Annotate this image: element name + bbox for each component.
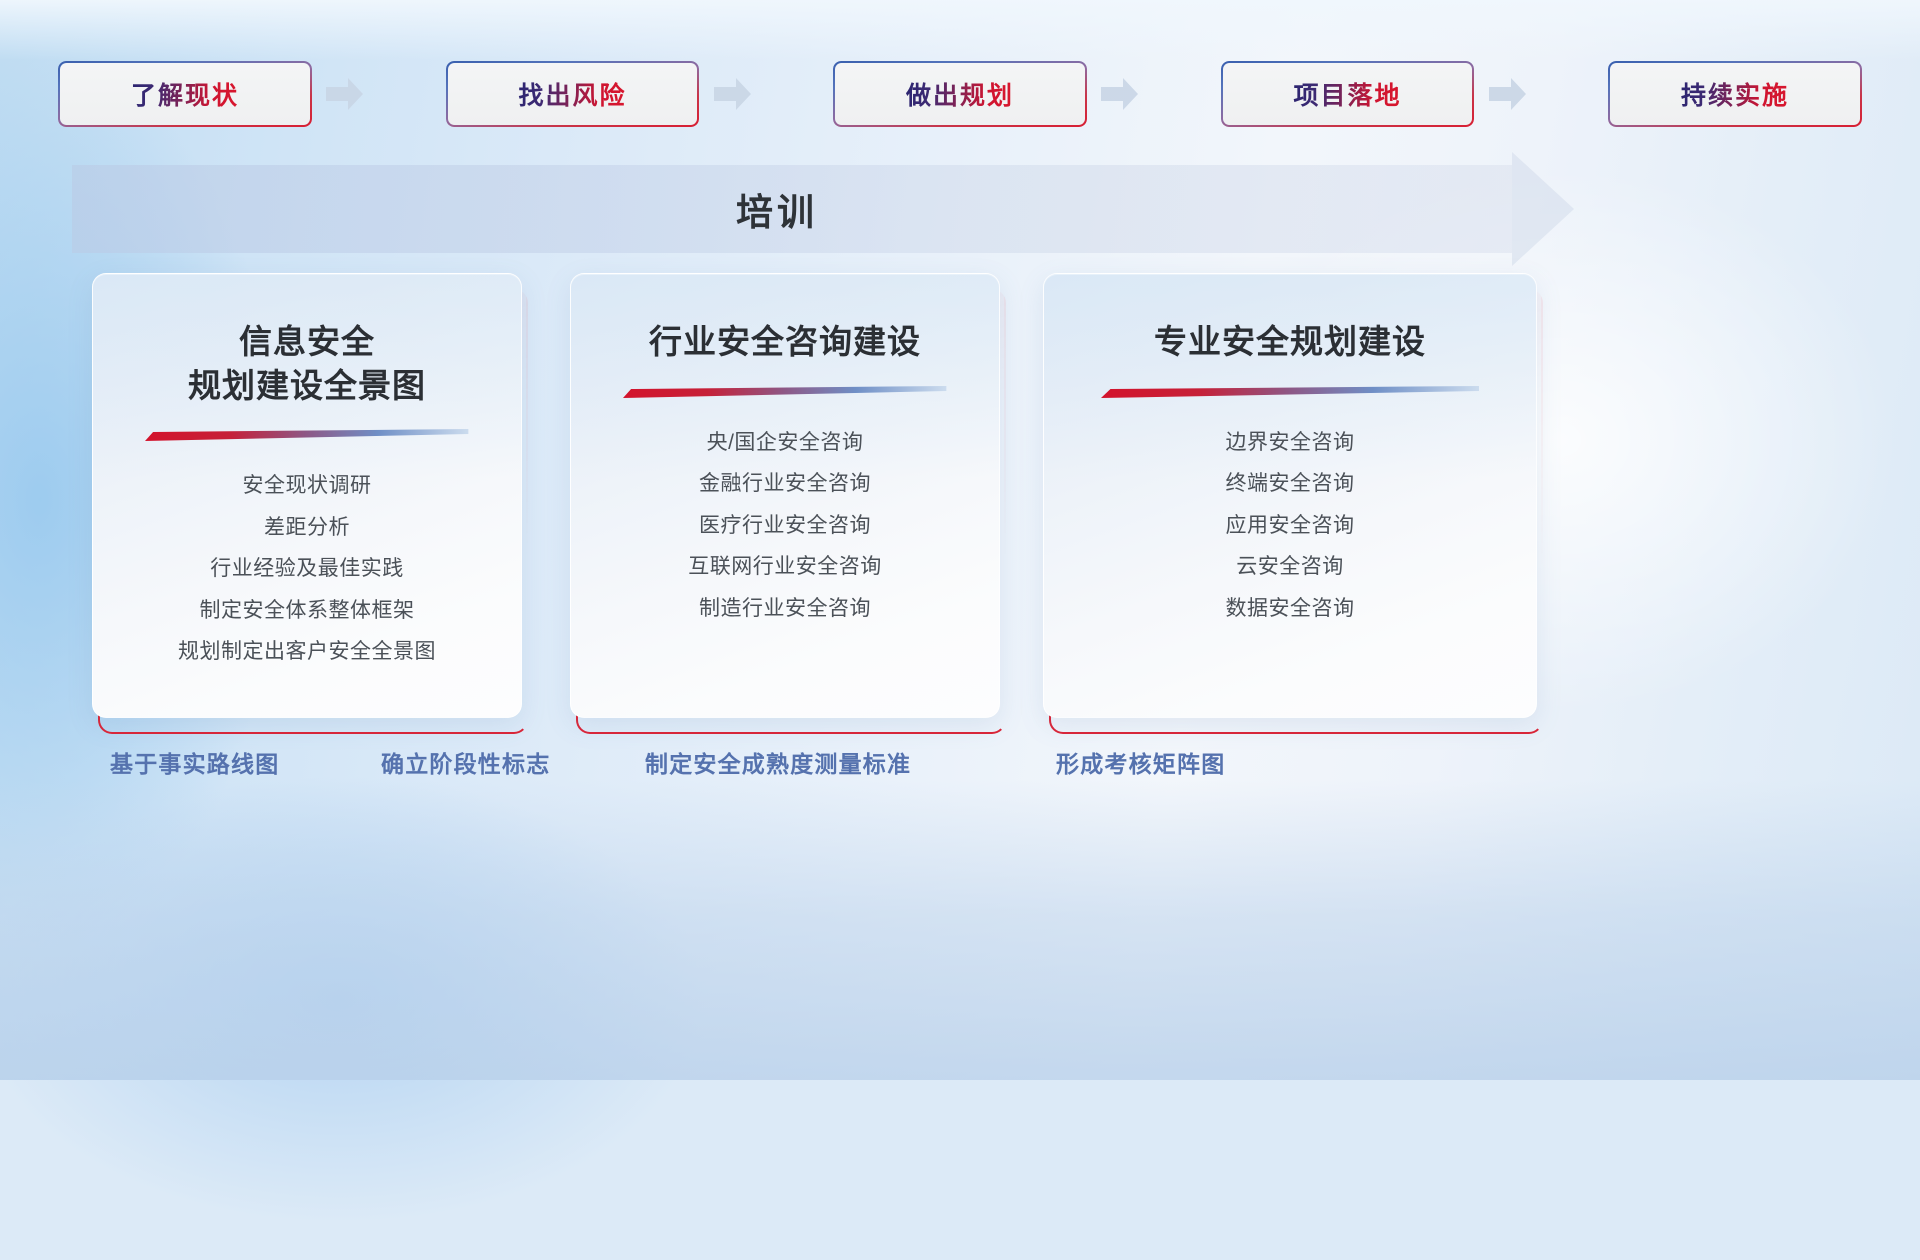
service-card-1[interactable]: 信息安全 规划建设全景图安全现状调研差距分析行业经验及最佳实践制定安全体系整体框… xyxy=(92,273,522,718)
process-step-label: 了解现状 xyxy=(131,76,239,112)
process-step-label: 项目落地 xyxy=(1293,76,1401,112)
outcome-label-row: 基于事实路线图确立阶段性标志制定安全成熟度测量标准形成考核矩阵图 xyxy=(0,745,1920,785)
card-list-item: 数据安全咨询 xyxy=(1070,588,1510,630)
card-list-item: 制造行业安全咨询 xyxy=(597,588,973,630)
card-title: 行业安全咨询建设 xyxy=(597,320,973,364)
training-banner-title: 培训 xyxy=(736,182,818,236)
arrow-right-icon xyxy=(326,77,364,111)
card-item-list: 边界安全咨询终端安全咨询应用安全咨询云安全咨询数据安全咨询 xyxy=(1070,422,1510,630)
process-step-row: 了解现状找出风险做出规划项目落地持续实施 xyxy=(60,62,1860,126)
card-list-item: 央/国企安全咨询 xyxy=(597,422,973,464)
training-banner: 培训 xyxy=(72,165,1512,253)
service-card-2[interactable]: 行业安全咨询建设央/国企安全咨询金融行业安全咨询医疗行业安全咨询互联网行业安全咨… xyxy=(570,273,1000,718)
outcome-label-4: 形成考核矩阵图 xyxy=(1056,745,1225,779)
card-surface: 信息安全 规划建设全景图安全现状调研差距分析行业经验及最佳实践制定安全体系整体框… xyxy=(92,273,522,718)
card-list-item: 行业经验及最佳实践 xyxy=(119,548,495,590)
background-top-fade xyxy=(0,0,1920,60)
card-list-item: 云安全咨询 xyxy=(1070,546,1510,588)
card-title: 专业安全规划建设 xyxy=(1070,320,1510,364)
service-card-3[interactable]: 专业安全规划建设边界安全咨询终端安全咨询应用安全咨询云安全咨询数据安全咨询 xyxy=(1043,273,1537,718)
card-list-item: 制定安全体系整体框架 xyxy=(119,590,495,632)
card-list-item: 终端安全咨询 xyxy=(1070,463,1510,505)
card-list-item: 医疗行业安全咨询 xyxy=(597,505,973,547)
process-step-label: 做出规划 xyxy=(906,76,1014,112)
card-surface: 专业安全规划建设边界安全咨询终端安全咨询应用安全咨询云安全咨询数据安全咨询 xyxy=(1043,273,1537,718)
card-surface: 行业安全咨询建设央/国企安全咨询金融行业安全咨询医疗行业安全咨询互联网行业安全咨… xyxy=(570,273,1000,718)
card-list-item: 安全现状调研 xyxy=(119,465,495,507)
process-step-label: 找出风险 xyxy=(518,76,626,112)
process-step-3[interactable]: 做出规划 xyxy=(835,63,1085,125)
card-divider xyxy=(145,429,468,443)
process-step-4[interactable]: 项目落地 xyxy=(1223,63,1473,125)
card-list-item: 金融行业安全咨询 xyxy=(597,463,973,505)
outcome-label-2: 确立阶段性标志 xyxy=(381,745,550,779)
outcome-label-3: 制定安全成熟度测量标准 xyxy=(645,745,911,779)
training-banner-arrow-icon xyxy=(1512,152,1574,266)
arrow-right-icon xyxy=(714,77,752,111)
background-bottom-band xyxy=(0,780,1920,1080)
service-card-row: 信息安全 规划建设全景图安全现状调研差距分析行业经验及最佳实践制定安全体系整体框… xyxy=(92,273,1832,718)
card-item-list: 央/国企安全咨询金融行业安全咨询医疗行业安全咨询互联网行业安全咨询制造行业安全咨… xyxy=(597,422,973,630)
card-item-list: 安全现状调研差距分析行业经验及最佳实践制定安全体系整体框架规划制定出客户安全全景… xyxy=(119,465,495,673)
card-divider xyxy=(1101,386,1479,400)
arrow-right-icon xyxy=(1489,77,1527,111)
outcome-label-1: 基于事实路线图 xyxy=(110,745,279,779)
card-list-item: 边界安全咨询 xyxy=(1070,422,1510,464)
card-list-item: 差距分析 xyxy=(119,507,495,549)
card-list-item: 规划制定出客户安全全景图 xyxy=(119,631,495,673)
card-list-item: 应用安全咨询 xyxy=(1070,505,1510,547)
card-divider xyxy=(623,386,946,400)
process-step-2[interactable]: 找出风险 xyxy=(448,63,698,125)
card-list-item: 互联网行业安全咨询 xyxy=(597,546,973,588)
process-step-5[interactable]: 持续实施 xyxy=(1610,63,1860,125)
card-title: 信息安全 规划建设全景图 xyxy=(119,320,495,407)
process-step-1[interactable]: 了解现状 xyxy=(60,63,310,125)
arrow-right-icon xyxy=(1101,77,1139,111)
process-step-label: 持续实施 xyxy=(1681,76,1789,112)
